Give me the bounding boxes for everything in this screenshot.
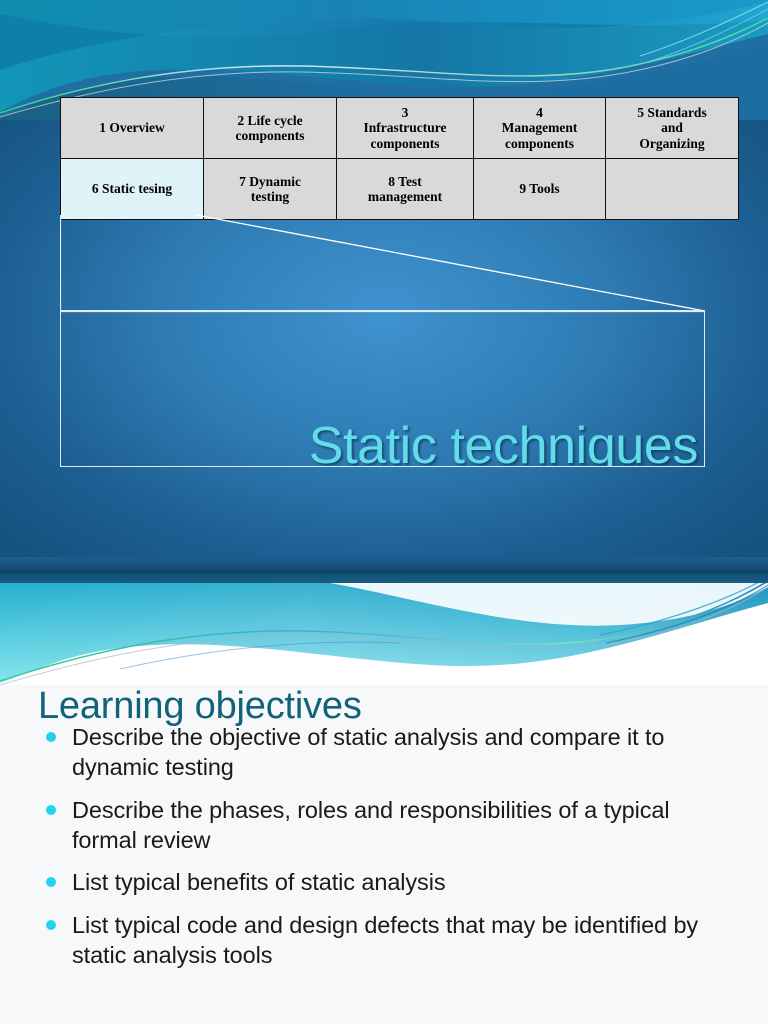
bullet-dot-icon [46,920,56,930]
cell-label-line2: Infrastructure [364,120,447,135]
bullet-dot-icon [46,805,56,815]
chapter-cell-7-dynamic-testing[interactable]: 7 Dynamic testing [204,159,337,220]
cell-label-line2: management [368,189,442,204]
cell-label-line2: testing [251,189,289,204]
list-item: List typical code and design defects tha… [40,910,732,971]
list-item-text: List typical benefits of static analysis [72,869,445,895]
cell-label-line3: components [505,136,574,151]
list-item: Describe the phases, roles and responsib… [40,795,732,856]
chapter-cell-5-standards-and-organizing[interactable]: 5 Standards and Organizing [606,98,739,159]
learning-objectives-list: Describe the objective of static analysi… [40,722,732,982]
cell-label-line1: 2 Life cycle [237,113,302,128]
cell-label-line1: 7 Dynamic [239,174,301,189]
chapter-cell-4-management-components[interactable]: 4 Management components [474,98,606,159]
slide-deck: 1 Overview 2 Life cycle components 3 Inf… [0,0,768,1024]
list-item-text: Describe the phases, roles and responsib… [72,797,670,853]
cell-label-line3: Organizing [639,136,704,151]
chapter-cell-6-static-testing-active[interactable]: 6 Static tesing [61,159,204,220]
list-item: List typical benefits of static analysis [40,867,732,897]
cell-label-line1: 3 [402,105,409,120]
chapter-cell-2-life-cycle-components[interactable]: 2 Life cycle components [204,98,337,159]
table-row: 6 Static tesing 7 Dynamic testing 8 Test… [61,159,739,220]
cell-label-line2: and [661,120,683,135]
cell-label-line2: components [235,128,304,143]
callout-connector-lines [60,215,706,315]
bullet-dot-icon [46,877,56,887]
chapter-navigation-table: 1 Overview 2 Life cycle components 3 Inf… [60,97,739,220]
cell-label: 6 Static tesing [92,181,172,196]
section-title-box: Static techniques [60,310,705,467]
list-item-text: Describe the objective of static analysi… [72,724,664,780]
slide-section-divider: 1 Overview 2 Life cycle components 3 Inf… [0,0,768,573]
cell-label: 1 Overview [99,120,165,135]
list-item: Describe the objective of static analysi… [40,722,732,783]
table-row: 1 Overview 2 Life cycle components 3 Inf… [61,98,739,159]
cell-label-line2: Management [502,120,578,135]
cell-label: 9 Tools [519,181,559,196]
chapter-cell-1-overview[interactable]: 1 Overview [61,98,204,159]
chapter-cell-3-infrastructure-components[interactable]: 3 Infrastructure components [337,98,474,159]
cell-label-line1: 5 Standards [637,105,706,120]
cell-label-line1: 8 Test [388,174,421,189]
slide2-top-bar [0,573,768,583]
chapter-cell-empty [606,159,739,220]
chapter-cell-8-test-management[interactable]: 8 Test management [337,159,474,220]
list-item-text: List typical code and design defects tha… [72,912,698,968]
section-title: Static techniques [309,420,698,467]
slide2-top-wave-decoration [0,573,768,685]
chapter-cell-9-tools[interactable]: 9 Tools [474,159,606,220]
cell-label-line3: components [370,136,439,151]
slide1-bottom-bar [0,557,768,573]
cell-label-line1: 4 [536,105,543,120]
bullet-dot-icon [46,732,56,742]
